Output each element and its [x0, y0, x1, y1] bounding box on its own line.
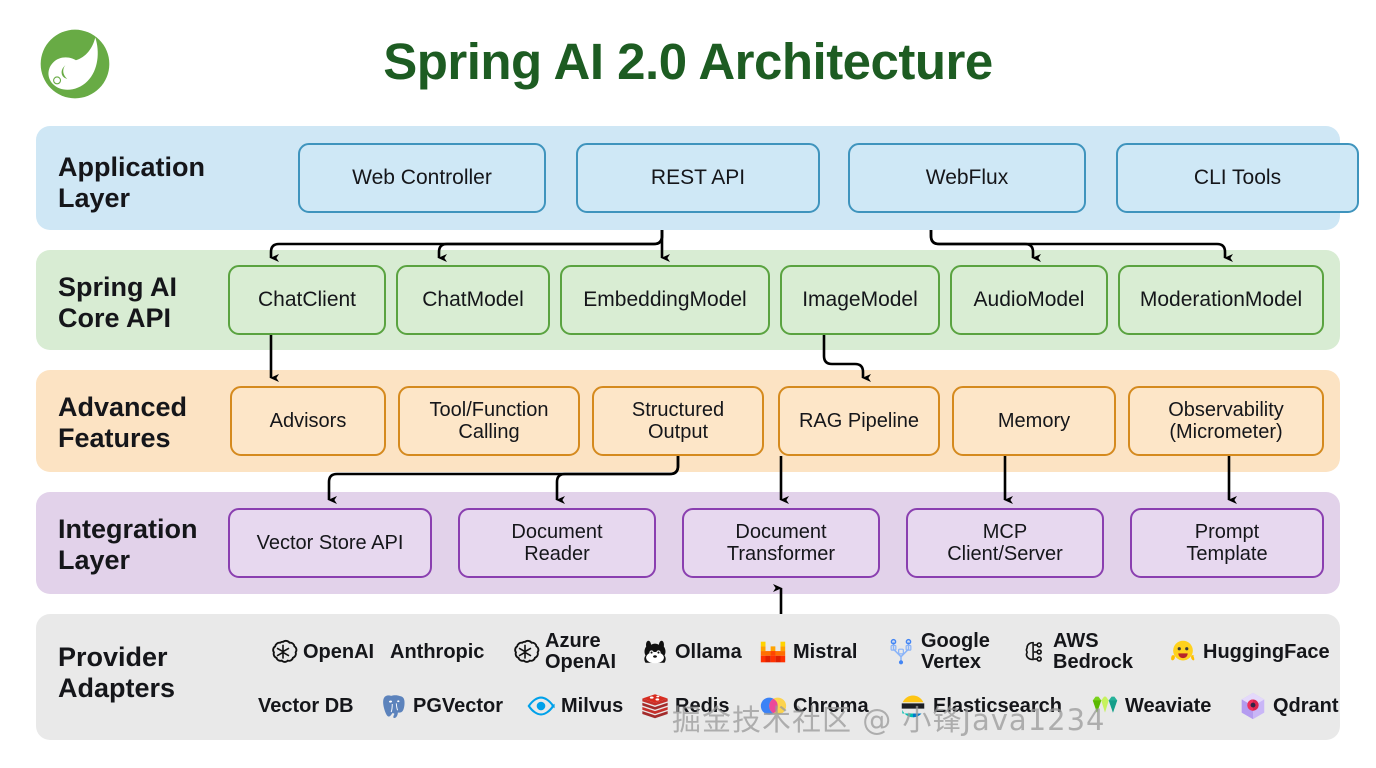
provider-vector-db-label: Vector DB: [258, 680, 354, 732]
provider-anthropic[interactable]: Anthropic: [390, 626, 484, 678]
provider-aws-bedrock[interactable]: AWS Bedrock: [1018, 626, 1133, 678]
google-vertex-icon: [886, 637, 916, 667]
provider-ollama[interactable]: Ollama: [640, 626, 742, 678]
provider-label: Qdrant: [1273, 696, 1339, 717]
provider-google-vertex[interactable]: Google Vertex: [886, 626, 990, 678]
provider-weaviate[interactable]: Weaviate: [1090, 680, 1211, 732]
provider-row-models: OpenAI Anthropic Azure OpenAI: [258, 626, 1368, 678]
qdrant-icon: [1238, 691, 1268, 721]
layer-label-core-api: Spring AI Core API: [58, 272, 177, 333]
node-audiomodel[interactable]: AudioModel: [950, 265, 1108, 335]
node-advisors[interactable]: Advisors: [230, 386, 386, 456]
node-moderationmodel[interactable]: ModerationModel: [1118, 265, 1324, 335]
postgres-icon: [378, 691, 408, 721]
node-chatclient[interactable]: ChatClient: [228, 265, 386, 335]
node-embeddingmodel[interactable]: EmbeddingModel: [560, 265, 770, 335]
node-rag-pipeline[interactable]: RAG Pipeline: [778, 386, 940, 456]
redis-icon: [640, 691, 670, 721]
provider-label: Google Vertex: [921, 631, 990, 673]
milvus-icon: [526, 691, 556, 721]
mistral-icon: [758, 637, 788, 667]
provider-label: Azure OpenAI: [545, 631, 616, 673]
layer-label-provider-adapters: Provider Adapters: [58, 642, 175, 703]
node-tool-function-calling[interactable]: Tool/Function Calling: [398, 386, 580, 456]
provider-label: Mistral: [793, 642, 857, 663]
huggingface-icon: [1168, 637, 1198, 667]
page-title: Spring AI 2.0 Architecture: [0, 32, 1376, 91]
provider-label: Ollama: [675, 642, 742, 663]
layer-integration: Integration Layer Vector Store API Docum…: [36, 492, 1340, 594]
layer-advanced-features: Advanced Features Advisors Tool/Function…: [36, 370, 1340, 472]
node-webflux[interactable]: WebFlux: [848, 143, 1086, 213]
layer-label-integration: Integration Layer: [58, 514, 198, 575]
node-mcp-client-server[interactable]: MCP Client/Server: [906, 508, 1104, 578]
architecture-diagram: Spring AI 2.0 Architecture Application L…: [0, 0, 1376, 768]
node-cli-tools[interactable]: CLI Tools: [1116, 143, 1359, 213]
provider-pgvector[interactable]: PGVector: [378, 680, 503, 732]
layer-label-application: Application Layer: [58, 152, 205, 213]
aws-bedrock-icon: [1018, 637, 1048, 667]
openai-icon: [510, 637, 540, 667]
provider-label: Anthropic: [390, 642, 484, 663]
provider-label: Vector DB: [258, 696, 354, 717]
node-web-controller[interactable]: Web Controller: [298, 143, 546, 213]
provider-label: Weaviate: [1125, 696, 1211, 717]
provider-label: OpenAI: [303, 642, 374, 663]
provider-huggingface[interactable]: HuggingFace: [1168, 626, 1330, 678]
layer-label-advanced-features: Advanced Features: [58, 392, 187, 453]
diagram-header: Spring AI 2.0 Architecture: [0, 0, 1376, 122]
provider-label: HuggingFace: [1203, 642, 1330, 663]
provider-label: AWS Bedrock: [1053, 631, 1133, 673]
provider-label: PGVector: [413, 696, 503, 717]
provider-mistral[interactable]: Mistral: [758, 626, 857, 678]
ollama-icon: [640, 637, 670, 667]
node-structured-output[interactable]: Structured Output: [592, 386, 764, 456]
node-rest-api[interactable]: REST API: [576, 143, 820, 213]
layer-core-api: Spring AI Core API ChatClient ChatModel …: [36, 250, 1340, 350]
provider-milvus[interactable]: Milvus: [526, 680, 623, 732]
layer-application: Application Layer Web Controller REST AP…: [36, 126, 1340, 230]
node-vector-store-api[interactable]: Vector Store API: [228, 508, 432, 578]
provider-openai[interactable]: OpenAI: [268, 626, 374, 678]
node-observability[interactable]: Observability (Micrometer): [1128, 386, 1324, 456]
node-chatmodel[interactable]: ChatModel: [396, 265, 550, 335]
node-memory[interactable]: Memory: [952, 386, 1116, 456]
node-document-transformer[interactable]: Document Transformer: [682, 508, 880, 578]
node-prompt-template[interactable]: Prompt Template: [1130, 508, 1324, 578]
provider-qdrant[interactable]: Qdrant: [1238, 680, 1339, 732]
watermark-text: 掘金技术社区 @ 小锋Java1234: [672, 697, 1106, 739]
node-document-reader[interactable]: Document Reader: [458, 508, 656, 578]
provider-label: Milvus: [561, 696, 623, 717]
openai-icon: [268, 637, 298, 667]
node-imagemodel[interactable]: ImageModel: [780, 265, 940, 335]
provider-azure-openai[interactable]: Azure OpenAI: [510, 626, 616, 678]
